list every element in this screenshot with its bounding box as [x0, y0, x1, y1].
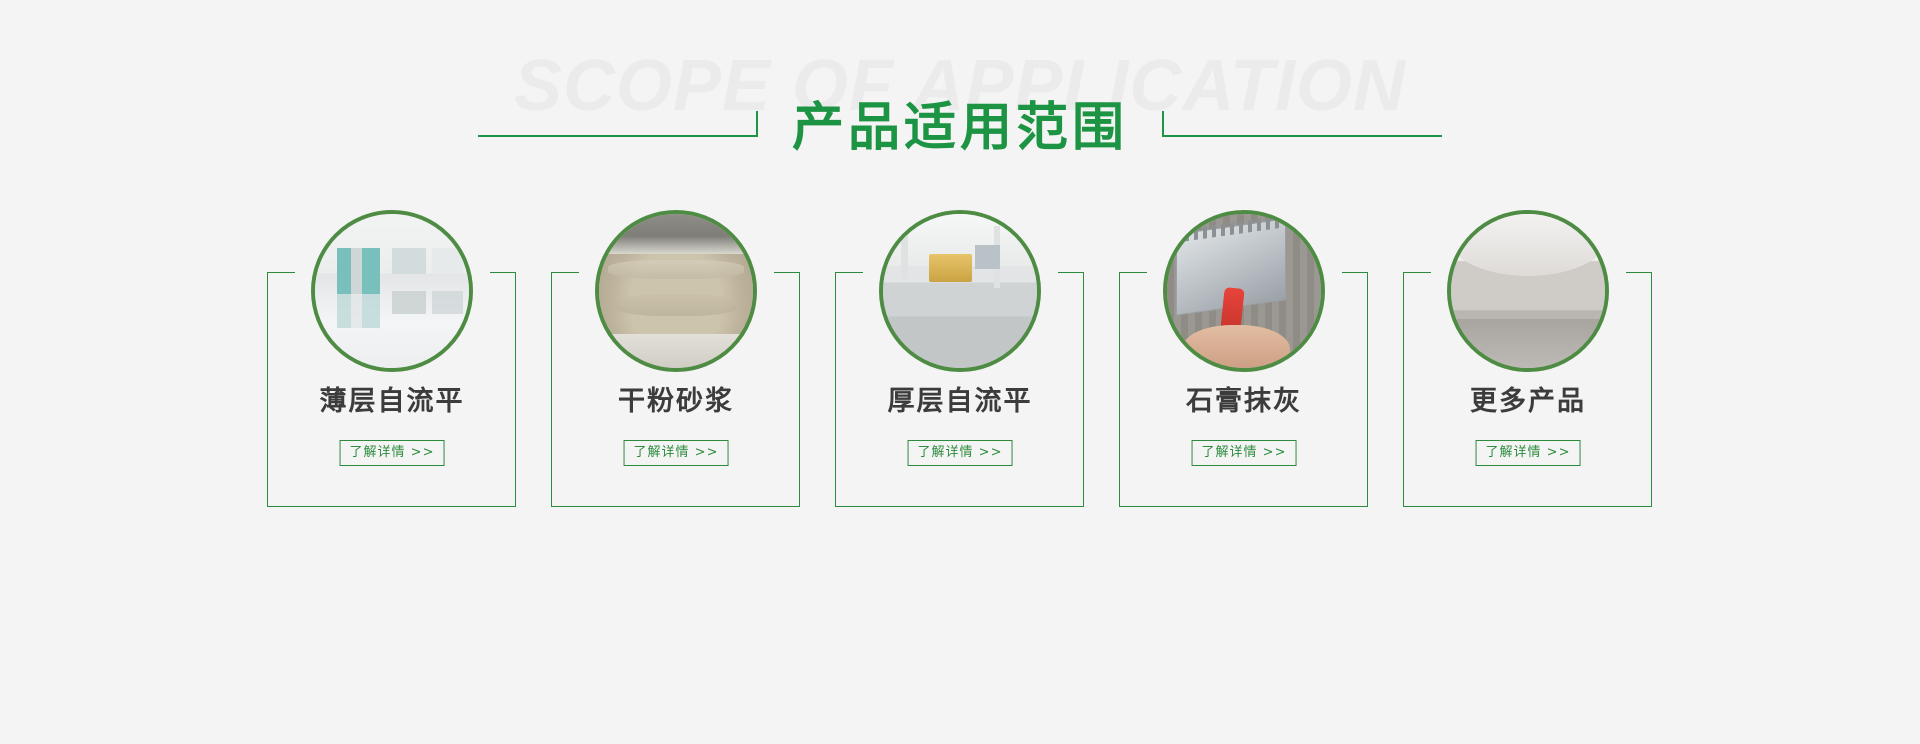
card-more-products[interactable]: 更多产品 了解详情 >>	[1403, 210, 1654, 510]
card-title: 厚层自流平	[835, 388, 1086, 415]
card-gypsum-plastering[interactable]: 石膏抹灰 了解详情 >>	[1119, 210, 1370, 510]
card-title: 干粉砂浆	[551, 388, 802, 415]
card-image-circle	[879, 210, 1041, 372]
section-header: SCOPE OF APPLICATION 产品适用范围	[0, 0, 1920, 200]
card-detail-button[interactable]: 了解详情 >>	[624, 440, 729, 466]
title-tick-right-icon	[1162, 111, 1164, 137]
card-title: 石膏抹灰	[1119, 388, 1370, 415]
card-dry-powder-mortar[interactable]: 干粉砂浆 了解详情 >>	[551, 210, 802, 510]
card-detail-button[interactable]: 了解详情 >>	[1192, 440, 1297, 466]
card-title: 更多产品	[1403, 388, 1654, 415]
card-detail-button[interactable]: 了解详情 >>	[340, 440, 445, 466]
card-title: 薄层自流平	[267, 388, 518, 415]
more-products-photo	[1451, 214, 1605, 368]
card-image-circle	[595, 210, 757, 372]
gypsum-plastering-trowel-photo	[1167, 214, 1321, 368]
page-root: SCOPE OF APPLICATION 产品适用范围 薄层自流平 了解详情 >…	[0, 0, 1920, 744]
card-image-circle	[311, 210, 473, 372]
card-thin-layer-self-leveling[interactable]: 薄层自流平 了解详情 >>	[267, 210, 518, 510]
title-rule-left	[478, 135, 758, 137]
thin-layer-self-leveling-floor-photo	[315, 214, 469, 368]
title-rule-right	[1162, 135, 1442, 137]
application-cards: 薄层自流平 了解详情 >> 干粉砂浆 了解详情 >>	[0, 210, 1920, 530]
card-image-circle	[1447, 210, 1609, 372]
card-detail-button[interactable]: 了解详情 >>	[1476, 440, 1581, 466]
card-thick-layer-self-leveling[interactable]: 厚层自流平 了解详情 >>	[835, 210, 1086, 510]
card-detail-button[interactable]: 了解详情 >>	[908, 440, 1013, 466]
page-title: 产品适用范围	[758, 102, 1162, 154]
card-image-circle	[1163, 210, 1325, 372]
title-row: 产品适用范围	[0, 96, 1920, 176]
dry-powder-mortar-photo	[599, 214, 753, 368]
thick-layer-self-leveling-floor-photo	[883, 214, 1037, 368]
